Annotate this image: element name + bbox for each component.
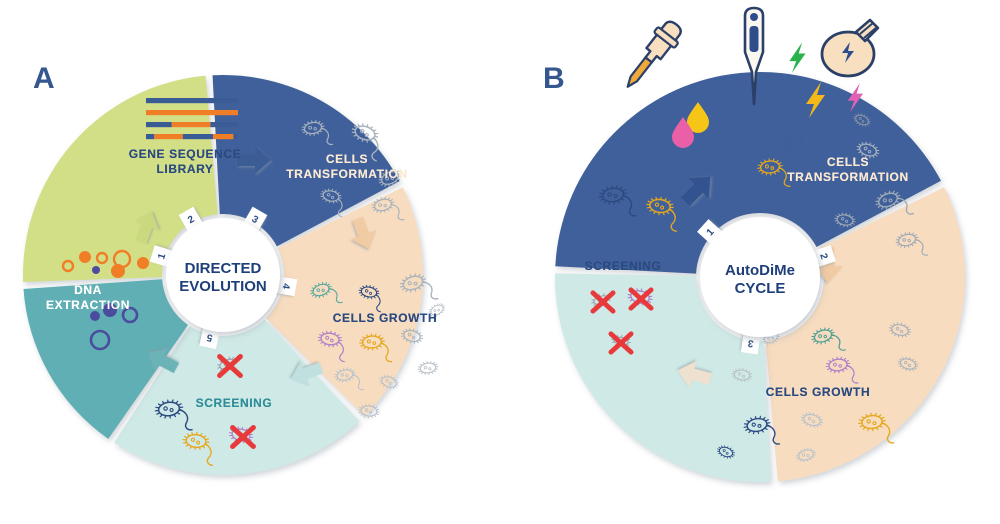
bolt-green — [789, 42, 805, 73]
segment-label-cells-growth-top: CELLS GROWTH — [766, 385, 871, 399]
segment-label-screening-top: SCREENING — [585, 259, 662, 273]
dna-particle — [90, 311, 100, 321]
lightbulb-icon — [822, 20, 878, 76]
dna-particle — [111, 264, 125, 278]
hub-label: DIRECTEDEVOLUTION — [179, 260, 267, 295]
pipette-icon — [617, 16, 686, 94]
figure-canvas: A B GENE SEQUENCELIBRARYCELLSTRANSFORMAT… — [0, 0, 1000, 524]
cycle-diagram: GENE SEQUENCELIBRARYCELLSTRANSFORMATIONC… — [0, 0, 1000, 524]
gene-bar-segment — [146, 110, 238, 115]
hub-label: AutoDiMeCYCLE — [725, 262, 795, 297]
segment-label-cells-growth-top: CELLS GROWTH — [333, 311, 438, 325]
dna-particle — [137, 257, 149, 269]
gene-bar-segment — [146, 98, 238, 103]
dna-particle — [92, 266, 100, 274]
step-tab-3[interactable]: 3 — [741, 334, 760, 354]
segment-label-screening-top: SCREENING — [196, 396, 273, 410]
bacterium-icon — [417, 360, 439, 376]
gene-bar-segment — [154, 134, 183, 139]
gene-bar-segment — [233, 134, 238, 139]
gene-bar-segment — [146, 122, 172, 127]
dna-particle — [79, 251, 91, 263]
gene-bar-segment — [183, 134, 213, 139]
panel-a-group: GENE SEQUENCELIBRARYCELLSTRANSFORMATIONC… — [23, 75, 447, 475]
gene-bar-segment — [210, 122, 238, 127]
gene-bar-segment — [172, 122, 211, 127]
gene-bar-segment — [213, 134, 233, 139]
gene-bar-segment — [146, 134, 154, 139]
panel-b-group: CELLSTRANSFORMATIONCELLS GROWTHSCREENING… — [555, 8, 965, 482]
